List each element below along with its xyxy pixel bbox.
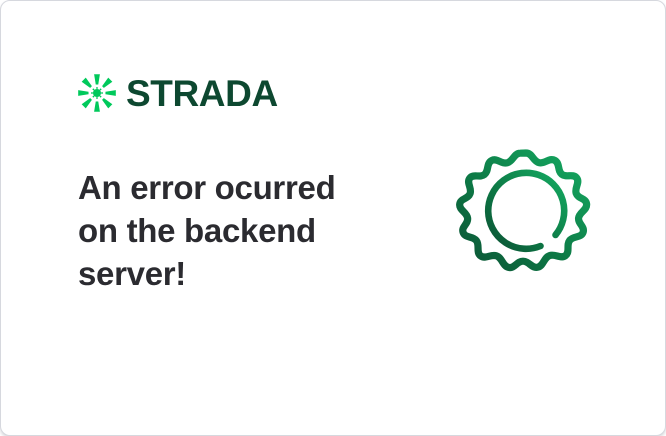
brand-wordmark: STRADA xyxy=(126,75,278,112)
error-message-line-3: server! xyxy=(78,252,378,295)
gear-cog-icon xyxy=(451,143,601,295)
error-message-line-1: An error ocurred xyxy=(78,166,378,209)
strada-asterisk-icon xyxy=(77,73,117,113)
error-card: STRADA An error ocurred on the backend s… xyxy=(0,0,666,436)
error-message-line-2: on the backend xyxy=(78,209,378,252)
brand-logo: STRADA xyxy=(77,73,278,113)
gear-illustration xyxy=(451,143,601,295)
error-message: An error ocurred on the backend server! xyxy=(78,166,378,295)
